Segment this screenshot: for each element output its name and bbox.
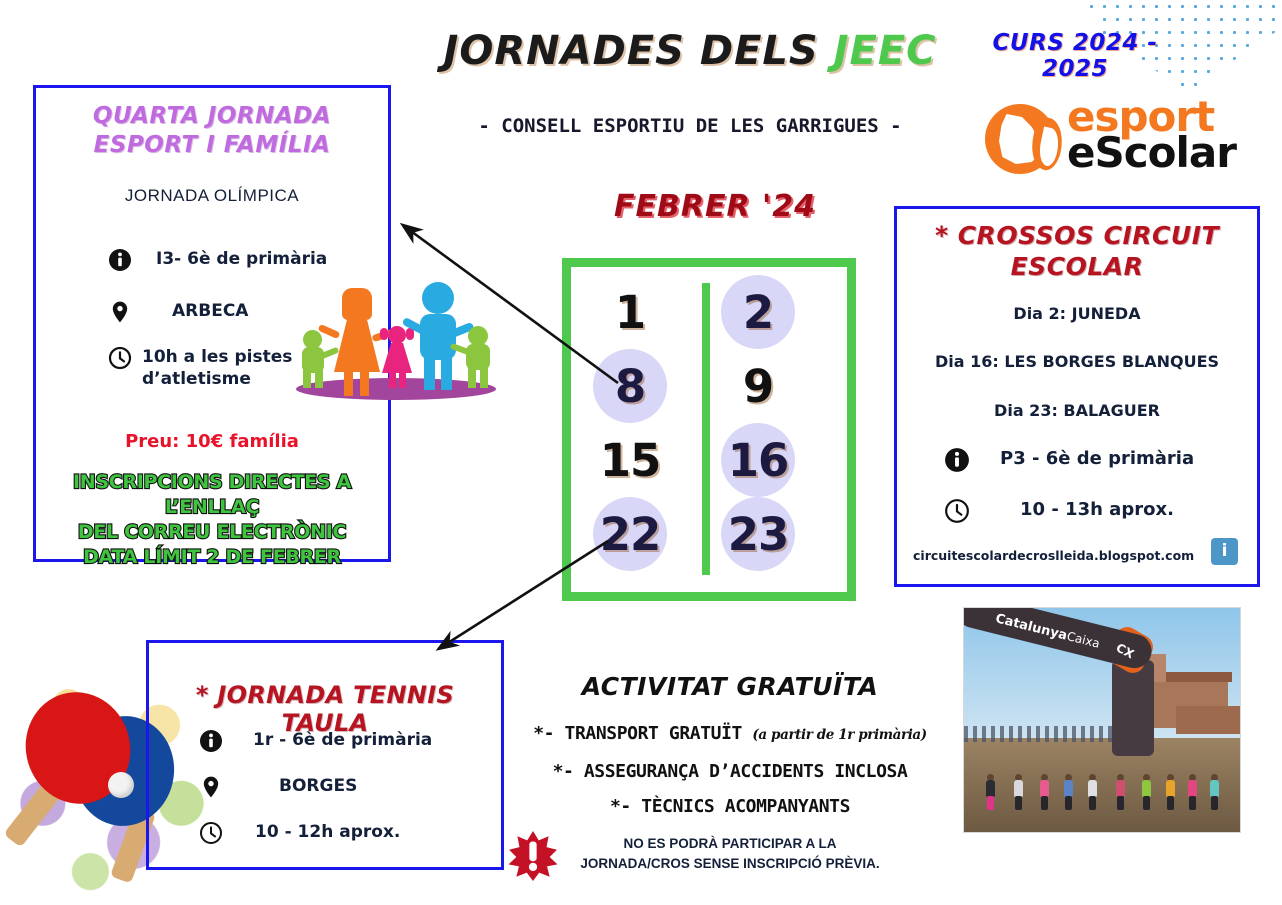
quarta-info-place: ARBECA (142, 300, 248, 322)
crossos-title-line2: ESCOLAR (1011, 252, 1144, 281)
crossos-title-line1: * CROSSOS CIRCUIT (935, 221, 1219, 250)
quarta-info-time-row: 10h a les pistes d’atletisme (108, 346, 292, 391)
photo-runner (1166, 774, 1175, 810)
calendar-day-1[interactable]: 1 (593, 275, 667, 349)
quarta-info-age-row: I3- 6è de primària (108, 248, 327, 272)
free-activity-bullet-2: *- TÈCNICS ACOMPANYANTS (505, 796, 955, 817)
clock-icon (199, 821, 223, 845)
tennis-info-time-row: 10 - 12h aprox. (199, 821, 400, 845)
calendar-day-9[interactable]: 9 (721, 349, 795, 423)
page-title-main: JORNADES DELS (443, 28, 833, 74)
tennis-info-age: 1r - 6è de primària (233, 729, 432, 751)
photo-ground (964, 738, 1240, 832)
figure-child-right (458, 326, 498, 388)
crossos-day-2: Dia 23: BALAGUER (897, 401, 1257, 420)
calendar-day-16[interactable]: 16 (721, 423, 795, 497)
photo-runner (1116, 774, 1125, 810)
clock-icon (944, 498, 970, 524)
crossos-info-time-row: 10 - 13h aprox. (944, 498, 1174, 524)
bullet-1-text: *- ASSEGURANÇA D’ACCIDENTS INCLOSA (553, 761, 908, 782)
crossos-title: * CROSSOS CIRCUIT ESCOLAR (897, 221, 1257, 282)
quarta-jornada-title: QUARTA JORNADA ESPORT I FAMÍLIA (36, 102, 388, 159)
warning-starburst-icon (507, 830, 559, 882)
quarta-info-age: I3- 6è de primària (142, 248, 327, 270)
quarta-title-line2: ESPORT I FAMÍLIA (94, 132, 331, 158)
calendar-divider (702, 283, 710, 575)
info-icon (108, 248, 132, 272)
crossos-info-age-row: P3 - 6è de primària (944, 447, 1194, 473)
photo-runner (1014, 774, 1023, 810)
figure-child-left (296, 330, 330, 386)
tennis-info-time: 10 - 12h aprox. (233, 821, 400, 843)
crossos-info-age: P3 - 6è de primària (980, 447, 1194, 471)
photo-arch-leg (1112, 660, 1154, 756)
quarta-jornada-subtitle: JORNADA OLÍMPICA (36, 186, 388, 206)
tennis-taula-panel: * JORNADA TENNIS TAULA 1r - 6è de primàr… (146, 640, 504, 870)
page-subtitle: - CONSELL ESPORTIU DE LES GARRIGUES - (420, 115, 960, 137)
february-calendar: 1 2 8 9 15 16 22 23 (562, 258, 856, 601)
location-pin-icon (108, 300, 132, 324)
quarta-info-time: 10h a les pistes d’atletisme (142, 346, 292, 391)
page-title: JORNADES DELS JEEC (420, 28, 960, 74)
photo-runner (1188, 774, 1197, 810)
photo-runner (1142, 774, 1151, 810)
tennis-info-place-row: BORGES (199, 775, 357, 799)
photo-crowd (964, 726, 1134, 742)
logo-mark-icon (985, 104, 1055, 174)
cross-country-race-photo: CatalunyaCaixa CX (963, 607, 1241, 833)
photo-wall (1176, 706, 1240, 734)
logo-word-escolar: eScolar (1067, 132, 1236, 174)
calendar-day-15[interactable]: 15 (593, 423, 667, 497)
warning-text: NO ES PODRÀ PARTICIPAR A LA JORNADA/CROS… (580, 834, 880, 875)
calendar-day-2[interactable]: 2 (721, 275, 795, 349)
bullet-0-text: *- TRANSPORT GRATUÏT (533, 723, 742, 744)
calendar-day-8[interactable]: 8 (593, 349, 667, 423)
clock-icon (108, 346, 132, 370)
info-icon (199, 729, 223, 753)
crossos-panel: * CROSSOS CIRCUIT ESCOLAR Dia 2: JUNEDA … (894, 206, 1260, 587)
location-pin-icon (199, 775, 223, 799)
crossos-day-1: Dia 16: LES BORGES BLANQUES (897, 352, 1257, 371)
free-activity-bullet-1: *- ASSEGURANÇA D’ACCIDENTS INCLOSA (505, 761, 955, 782)
crossos-day-0: Dia 2: JUNEDA (897, 304, 1257, 323)
photo-runner (986, 774, 995, 810)
calendar-day-23[interactable]: 23 (721, 497, 795, 571)
quarta-title-line1: QUARTA JORNADA (93, 103, 331, 129)
free-activity-bullet-0: *- TRANSPORT GRATUÏT (a partir de 1r pri… (505, 723, 955, 744)
calendar-day-22[interactable]: 22 (593, 497, 667, 571)
crossos-blog-url[interactable]: circuitescolardecroslleida.blogspot.com (913, 548, 1194, 563)
family-illustration (292, 276, 508, 408)
quarta-price: Preu: 10€ família (36, 431, 388, 452)
pingpong-ball (108, 772, 134, 798)
tennis-info-place: BORGES (233, 775, 357, 797)
photo-runner (1040, 774, 1049, 810)
bullet-2-text: *- TÈCNICS ACOMPANYANTS (610, 796, 850, 817)
crossos-info-time: 10 - 13h aprox. (980, 498, 1174, 522)
photo-runner (1210, 774, 1219, 810)
photo-runner (1088, 774, 1097, 810)
page-title-accent: JEEC (834, 28, 937, 74)
photo-runner (1064, 774, 1073, 810)
quarta-registration-notice: INSCRIPCIONS DIRECTES A L’ENLLAÇ DEL COR… (36, 470, 388, 570)
figure-mother (328, 288, 384, 388)
bullet-0-note: (a partir de 1r primària) (752, 727, 926, 743)
course-year-label: CURS 2024 - 2025 (960, 30, 1190, 82)
info-icon (944, 447, 970, 473)
tennis-info-age-row: 1r - 6è de primària (199, 729, 432, 753)
quarta-info-place-row: ARBECA (108, 300, 248, 324)
info-badge-icon[interactable]: i (1211, 538, 1238, 565)
esport-escolar-logo: esport eScolar (985, 98, 1235, 180)
free-activity-title: ACTIVITAT GRATUÏTA (505, 672, 955, 701)
month-heading: FEBRER '24 (600, 189, 830, 224)
